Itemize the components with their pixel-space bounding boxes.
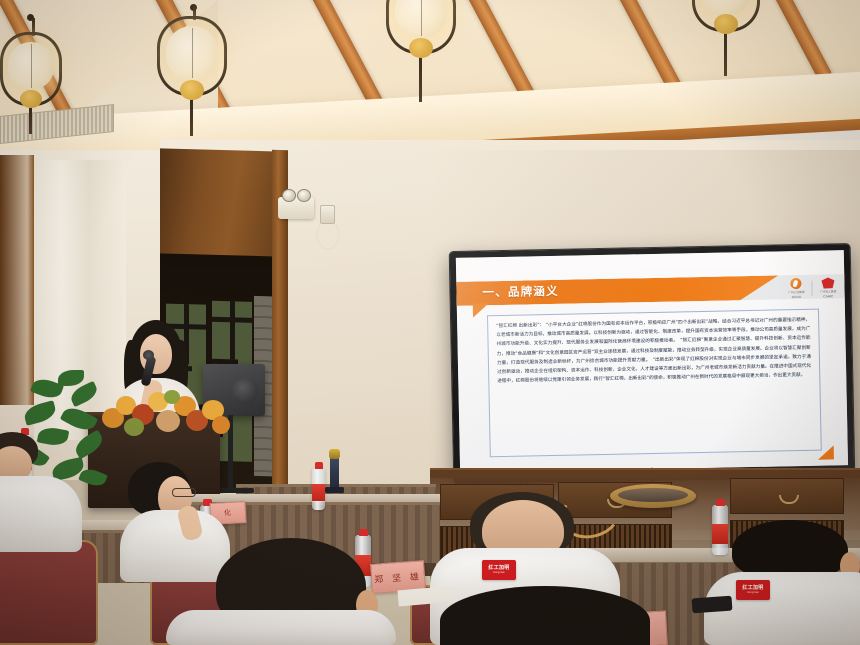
slide-body-box: “智汇红棉 出新出彩”： “小平台大企业”红棉股份作为国有资本运作平台，积极响应… xyxy=(487,309,822,458)
polo-shirt xyxy=(0,476,82,552)
attendee: 红工加明 Hongmian xyxy=(700,520,860,645)
attendee xyxy=(0,432,98,552)
chinese-lantern-light xyxy=(692,0,764,76)
slide-logos: 广州工控集团 GCCG 广州轻工集团 CAHIC xyxy=(788,277,837,299)
hair xyxy=(440,586,650,645)
emergency-light xyxy=(278,197,314,219)
chair[interactable] xyxy=(0,540,98,645)
logo-name-cn: 广州轻工集团 xyxy=(820,289,837,293)
logo-cahic: 广州轻工集团 CAHIC xyxy=(820,277,837,298)
logo-name-en: CAHIC xyxy=(823,294,833,298)
microphone-head-icon xyxy=(329,449,340,459)
microphone-base xyxy=(325,487,344,493)
logo-divider xyxy=(812,281,813,296)
patch-subtext: Hongmian xyxy=(493,571,505,574)
chinese-lantern-light xyxy=(157,4,231,136)
shield-icon xyxy=(821,277,834,288)
tv-screen[interactable]: 一、品牌涵义 广州工控集团 GCCG 广州轻工集团 CAHIC xyxy=(456,250,848,473)
hanging-cord xyxy=(316,220,340,250)
tray-inner xyxy=(618,488,688,502)
slide-title: 一、品牌涵义 xyxy=(482,283,559,301)
flame-icon xyxy=(791,278,802,289)
company-logo-patch: 红工加明 Hongmian xyxy=(482,560,516,580)
conference-room-photo: 一、品牌涵义 广州工控集团 GCCG 广州轻工集团 CAHIC xyxy=(0,0,860,645)
polo-shirt xyxy=(166,610,396,645)
attendee xyxy=(440,586,650,645)
smartphone[interactable] xyxy=(692,596,733,614)
logo-gccg: 广州工控集团 GCCG xyxy=(788,278,805,299)
attendee xyxy=(196,538,396,645)
wall-mounted-display[interactable]: 一、品牌涵义 广州工控集团 GCCG 广州轻工集团 CAHIC xyxy=(450,244,855,484)
microphone-head-icon xyxy=(143,350,154,360)
water-bottle[interactable] xyxy=(312,468,325,510)
logo-name-en: GCCG xyxy=(792,295,802,299)
drawer-handle[interactable] xyxy=(779,495,799,504)
company-logo-patch: 红工加明 Hongmian xyxy=(736,580,770,600)
sideboard-drawer[interactable] xyxy=(730,478,844,514)
eyeglasses-icon xyxy=(172,488,196,497)
chinese-lantern-light xyxy=(0,14,66,134)
presentation-slide: 一、品牌涵义 广州工控集团 GCCG 广州轻工集团 CAHIC xyxy=(456,250,848,473)
wood-trim xyxy=(0,155,34,405)
speaker-cone-icon xyxy=(232,378,258,404)
slide-body-text: “智汇红棉 出新出彩”： “小平台大企业”红棉股份作为国有资本运作平台，积极响应… xyxy=(496,316,811,387)
logo-name-cn: 广州工控集团 xyxy=(788,290,805,294)
hair xyxy=(732,520,848,580)
desk-microphone[interactable] xyxy=(330,455,339,491)
patch-subtext: Hongmian xyxy=(747,591,759,594)
chinese-lantern-light xyxy=(386,0,460,102)
